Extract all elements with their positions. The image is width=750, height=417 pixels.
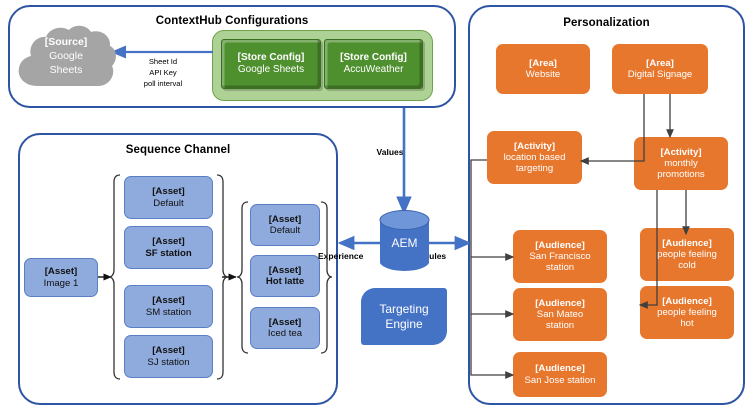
asset-group1-sf-station[interactable]: [Asset] SF station	[124, 226, 213, 269]
personalization-title: Personalization	[470, 17, 743, 29]
source-params-label: Sheet Id API Key poll interval	[121, 56, 205, 89]
activity-location-based-targeting[interactable]: [Activity] location based targeting	[487, 131, 582, 184]
asset-type-g2-1: [Asset]	[269, 265, 302, 276]
audience-left-type-0: [Audience]	[535, 240, 585, 251]
audience-left-type-1: [Audience]	[535, 298, 585, 309]
values-edge-label: Values	[362, 146, 418, 158]
google-sheets-source-cloud[interactable]: [Source] Google Sheets	[12, 22, 120, 98]
audience-san-mateo-station[interactable]: [Audience] San Mateo station	[513, 288, 607, 341]
source-name-line1: Google	[12, 50, 120, 64]
activity-name-1-line1: monthly	[664, 158, 698, 169]
asset-name-g2-1: Hot latte	[266, 276, 304, 287]
asset-name-g2-2: Iced tea	[268, 328, 302, 339]
aem-repository[interactable]: AEM	[379, 210, 430, 273]
param-poll-interval: poll interval	[121, 78, 205, 89]
audience-left-0-line2: station	[546, 262, 574, 273]
source-cloud-label: [Source] Google Sheets	[12, 36, 120, 78]
store-config-google-sheets[interactable]: [Store Config] Google Sheets	[221, 39, 321, 89]
audience-san-jose-station[interactable]: [Audience] San Jose station	[513, 352, 607, 397]
asset-type-g1-1: [Asset]	[152, 236, 185, 247]
activity-name-0-line2: targeting	[516, 163, 553, 174]
activity-monthly-promotions[interactable]: [Activity] monthly promotions	[634, 137, 728, 190]
source-name-line2: Sheets	[12, 64, 120, 78]
store-config-name-0: Google Sheets	[238, 64, 304, 76]
audience-san-francisco-station[interactable]: [Audience] San Francisco station	[513, 230, 607, 283]
asset-group1-default[interactable]: [Asset] Default	[124, 176, 213, 219]
asset-group2-hot-latte[interactable]: [Asset] Hot latte	[250, 255, 320, 297]
asset-name-g1-3: SJ station	[147, 357, 189, 368]
audience-right-type-0: [Audience]	[662, 238, 712, 249]
audience-left-0-line1: San Francisco	[529, 251, 590, 262]
audience-left-2-line1: San Jose station	[525, 375, 596, 386]
store-config-accuweather[interactable]: [Store Config] AccuWeather	[324, 39, 423, 89]
asset-name-g1-0: Default	[153, 198, 183, 209]
targeting-engine-line1: Targeting	[379, 302, 428, 316]
asset-type-root: [Asset]	[45, 266, 78, 277]
activity-type-0: [Activity]	[514, 141, 555, 152]
asset-type-g2-0: [Asset]	[269, 214, 302, 225]
asset-type-g1-0: [Asset]	[152, 186, 185, 197]
activity-type-1: [Activity]	[660, 147, 701, 158]
aem-label: AEM	[379, 236, 430, 250]
asset-type-g2-2: [Asset]	[269, 317, 302, 328]
asset-image-1[interactable]: [Asset] Image 1	[24, 258, 98, 297]
asset-group2-iced-tea[interactable]: [Asset] Iced tea	[250, 307, 320, 349]
area-type-1: [Area]	[646, 58, 674, 69]
activity-name-0-line1: location based	[504, 152, 566, 163]
audience-right-1-line1: people feeling	[657, 307, 717, 318]
audience-right-0-line1: people feeling	[657, 249, 717, 260]
param-api-key: API Key	[121, 67, 205, 78]
source-type: [Source]	[12, 36, 120, 50]
diagram-canvas: ContextHub Configurations [Source] Googl…	[0, 0, 750, 417]
asset-name-root: Image 1	[44, 278, 79, 289]
area-digital-signage[interactable]: [Area] Digital Signage	[612, 44, 708, 94]
asset-type-g1-2: [Asset]	[152, 295, 185, 306]
audience-people-feeling-hot[interactable]: [Audience] people feeling hot	[640, 286, 734, 339]
audience-left-type-2: [Audience]	[535, 363, 585, 374]
sequence-channel-title: Sequence Channel	[20, 144, 336, 156]
audience-left-1-line2: station	[546, 320, 574, 331]
targeting-engine-line2: Engine	[385, 317, 422, 331]
asset-name-g2-0: Default	[270, 225, 300, 236]
audience-people-feeling-cold[interactable]: [Audience] people feeling cold	[640, 228, 734, 281]
asset-type-g1-3: [Asset]	[152, 345, 185, 356]
targeting-engine-box[interactable]: Targeting Engine	[361, 288, 447, 345]
asset-group1-sm-station[interactable]: [Asset] SM station	[124, 285, 213, 328]
asset-name-g1-2: SM station	[146, 307, 191, 318]
asset-group2-default[interactable]: [Asset] Default	[250, 204, 320, 246]
activity-name-1-line2: promotions	[657, 169, 704, 180]
area-name-1: Digital Signage	[628, 69, 693, 80]
asset-name-g1-1: SF station	[145, 248, 191, 259]
audience-right-1-line2: hot	[680, 318, 693, 329]
store-config-name-1: AccuWeather	[344, 64, 404, 76]
store-config-type-1: [Store Config]	[340, 52, 407, 64]
audience-right-0-line2: cold	[678, 260, 696, 271]
audience-right-type-1: [Audience]	[662, 296, 712, 307]
area-name-0: Website	[526, 69, 560, 80]
store-config-type-0: [Store Config]	[238, 52, 305, 64]
param-sheet-id: Sheet Id	[121, 56, 205, 67]
area-type-0: [Area]	[529, 58, 557, 69]
area-website[interactable]: [Area] Website	[496, 44, 590, 94]
asset-group1-sj-station[interactable]: [Asset] SJ station	[124, 335, 213, 378]
experience-edge-label: Experience	[318, 250, 386, 262]
audience-left-1-line1: San Mateo	[537, 309, 583, 320]
